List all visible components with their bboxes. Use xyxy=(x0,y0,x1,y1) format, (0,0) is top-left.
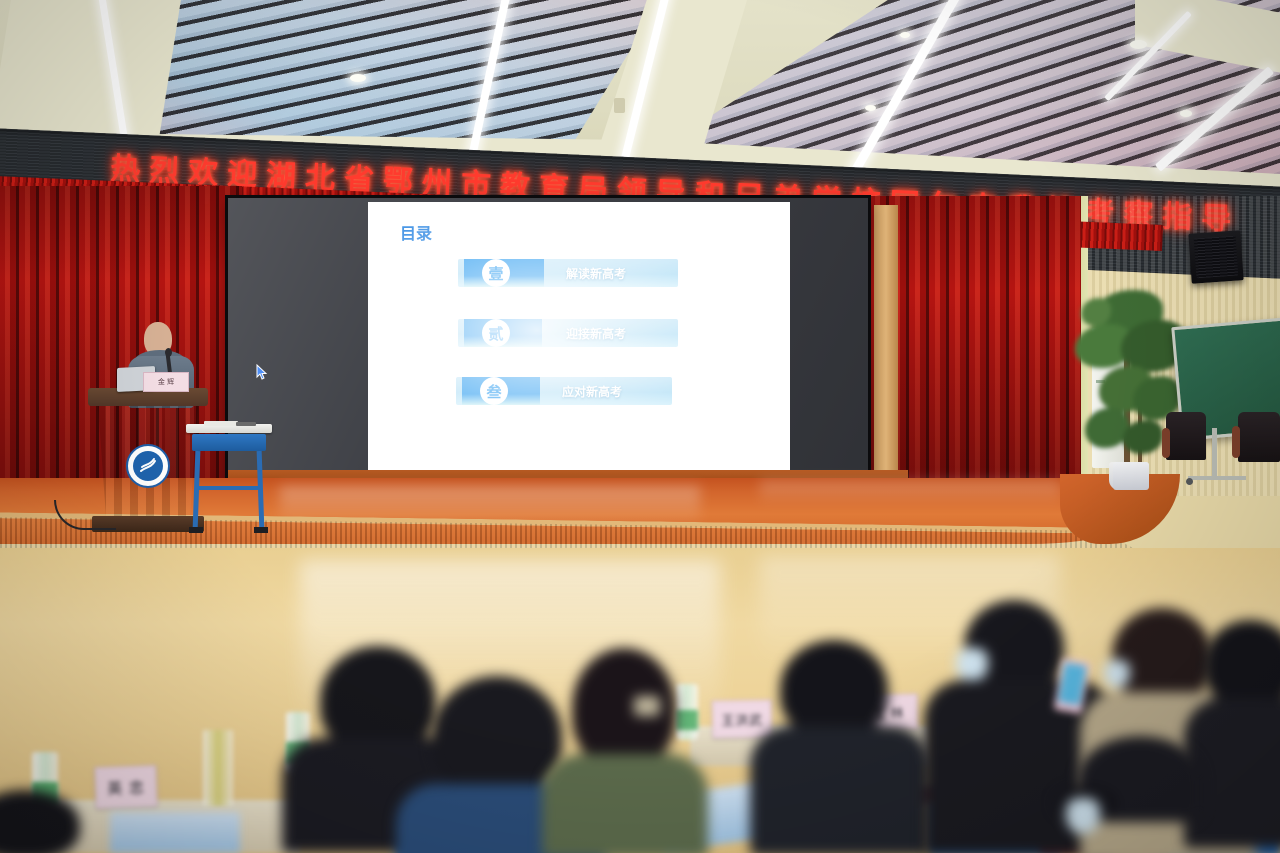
downlight-4 xyxy=(865,105,876,111)
side-chair-1 xyxy=(1166,412,1206,460)
emblem-glyph xyxy=(137,455,159,477)
ceiling-sensor xyxy=(614,98,625,113)
desk-remote xyxy=(236,422,256,426)
face-mask xyxy=(956,648,988,682)
face-mask xyxy=(1104,660,1130,688)
audience-person-9 xyxy=(0,790,90,853)
presentation-slide: 目录 壹 解读新高考 贰 迎接新高考 xyxy=(368,202,790,487)
downlight-5 xyxy=(1180,110,1192,117)
stage-curtain-right xyxy=(866,196,1081,492)
desk-papers xyxy=(204,421,238,426)
stage-reflection-2 xyxy=(760,480,1060,506)
wall-pilaster xyxy=(874,205,898,490)
desk-leg-right xyxy=(257,451,265,529)
ceiling-frame-left xyxy=(0,0,182,144)
person-head xyxy=(0,790,80,853)
side-desk xyxy=(186,424,272,534)
side-chair-arm-2 xyxy=(1232,426,1240,458)
audience-person-4 xyxy=(760,640,910,853)
face-mask xyxy=(1066,798,1100,834)
leaf-cluster-7 xyxy=(1123,420,1163,454)
person-head xyxy=(572,648,676,768)
wall-speaker xyxy=(1188,230,1243,284)
desk-crossbar xyxy=(196,486,262,490)
person-head xyxy=(1204,620,1280,708)
curtain-shading xyxy=(866,196,1081,492)
toc-item-2: 贰 迎接新高考 xyxy=(458,319,678,347)
hair-tie xyxy=(634,696,660,716)
ceiling-louver-panel-left xyxy=(145,0,665,140)
person-head xyxy=(432,676,562,796)
side-chair-2 xyxy=(1238,412,1280,462)
speaker-grille xyxy=(1194,236,1239,279)
name-placard-1-text: 英 忠 xyxy=(95,766,156,808)
chalkboard-stand xyxy=(1212,428,1217,480)
downlight-1 xyxy=(350,74,366,82)
side-chair-arm-1 xyxy=(1162,428,1170,458)
podium-name-card-text: 金 辉 xyxy=(144,373,188,391)
desk-drawer xyxy=(192,434,266,451)
chalkboard-caster xyxy=(1186,478,1193,485)
toc-label: 应对新高考 xyxy=(562,383,622,400)
desk-leg-left xyxy=(193,451,201,529)
mouse-pointer-icon xyxy=(256,364,268,380)
downlight-3 xyxy=(900,32,910,38)
auditorium-photo: 热烈欢迎湖北省鄂州市教育局领导和兄弟学校同仁来我校考察指导 目录 壹 解读 xyxy=(0,0,1280,853)
podium-name-card: 金 辉 xyxy=(143,372,189,392)
louver-color-wash xyxy=(145,0,665,140)
booklet-1 xyxy=(110,812,240,853)
toc-label: 迎接新高考 xyxy=(566,325,626,342)
person-head xyxy=(780,640,888,738)
toc-label: 解读新高考 xyxy=(566,265,626,282)
chalkboard-base xyxy=(1188,476,1246,480)
person-shoulders xyxy=(542,754,708,853)
toc-item-3: 叁 应对新高考 xyxy=(456,377,672,405)
toc-item-1: 壹 解读新高考 xyxy=(458,259,678,287)
toc-number: 壹 xyxy=(482,259,510,287)
tea-cup xyxy=(203,730,233,806)
microphone-head xyxy=(165,348,172,357)
led-video-wall: 目录 壹 解读新高考 贰 迎接新高考 xyxy=(228,198,868,488)
slide-title: 目录 xyxy=(400,220,432,244)
name-placard-1: 英 忠 xyxy=(94,765,157,809)
phone-screen xyxy=(1058,662,1087,705)
audience-person-8 xyxy=(1060,736,1230,853)
toc-number: 贰 xyxy=(482,319,510,347)
downlight-2 xyxy=(1130,40,1147,49)
person-shoulders xyxy=(750,726,930,853)
school-emblem xyxy=(126,444,170,488)
audience-person-3 xyxy=(548,648,698,853)
bin xyxy=(1113,462,1149,490)
person-head xyxy=(1112,608,1212,704)
desk-foot-right xyxy=(254,527,268,533)
toc-number: 叁 xyxy=(480,377,508,405)
desk-foot-left xyxy=(189,527,203,533)
